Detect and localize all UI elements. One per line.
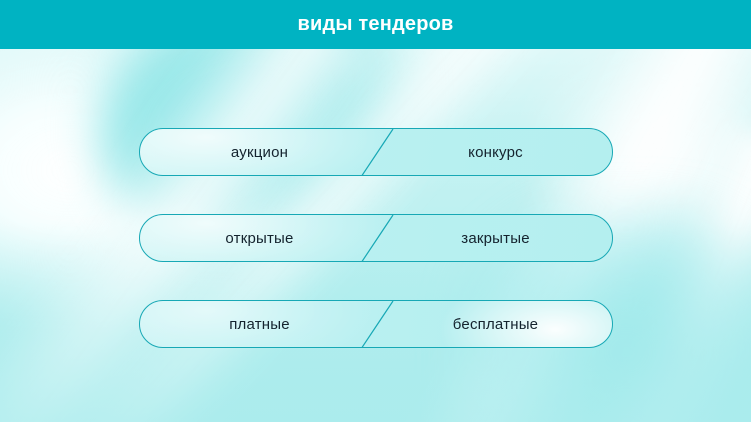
tender-option-competition[interactable]: конкурс [379,129,612,175]
tender-type-row-1[interactable]: аукцион конкурс [139,128,613,176]
tender-option-label: бесплатные [453,316,538,333]
tender-option-label: платные [229,316,290,333]
header-bar: виды тендеров [0,0,751,49]
slide-canvas: виды тендеров аукцион конкурс открытые з… [0,0,751,422]
tender-option-label: открытые [225,230,293,247]
tender-option-open[interactable]: открытые [140,215,379,261]
tender-type-row-3[interactable]: платные бесплатные [139,300,613,348]
tender-type-row-2[interactable]: открытые закрытые [139,214,613,262]
tender-option-auction[interactable]: аукцион [140,129,379,175]
tender-option-label: закрытые [461,230,530,247]
page-title: виды тендеров [0,0,751,49]
tender-types-list: аукцион конкурс открытые закрытые платны… [0,0,751,422]
tender-option-free[interactable]: бесплатные [379,301,612,347]
tender-option-label: аукцион [231,144,288,161]
tender-option-label: конкурс [468,144,523,161]
tender-option-paid[interactable]: платные [140,301,379,347]
tender-option-closed[interactable]: закрытые [379,215,612,261]
